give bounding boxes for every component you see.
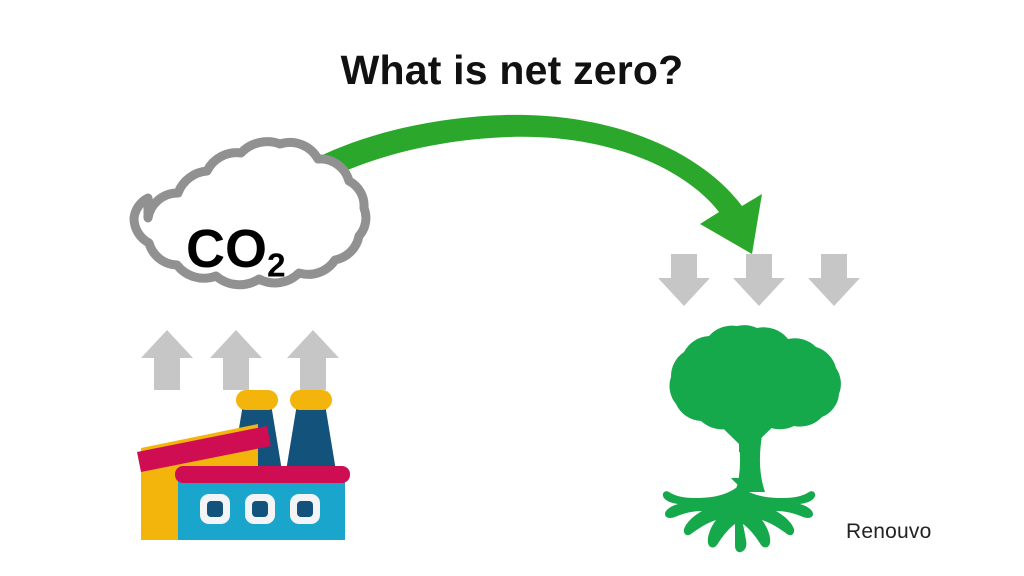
- tree-icon: [0, 0, 1024, 576]
- tree-roots: [663, 478, 815, 552]
- tree-canopy: [669, 325, 840, 431]
- slide-canvas: What is net zero? CO2: [0, 0, 1024, 576]
- watermark-text: Renouvo: [846, 520, 931, 544]
